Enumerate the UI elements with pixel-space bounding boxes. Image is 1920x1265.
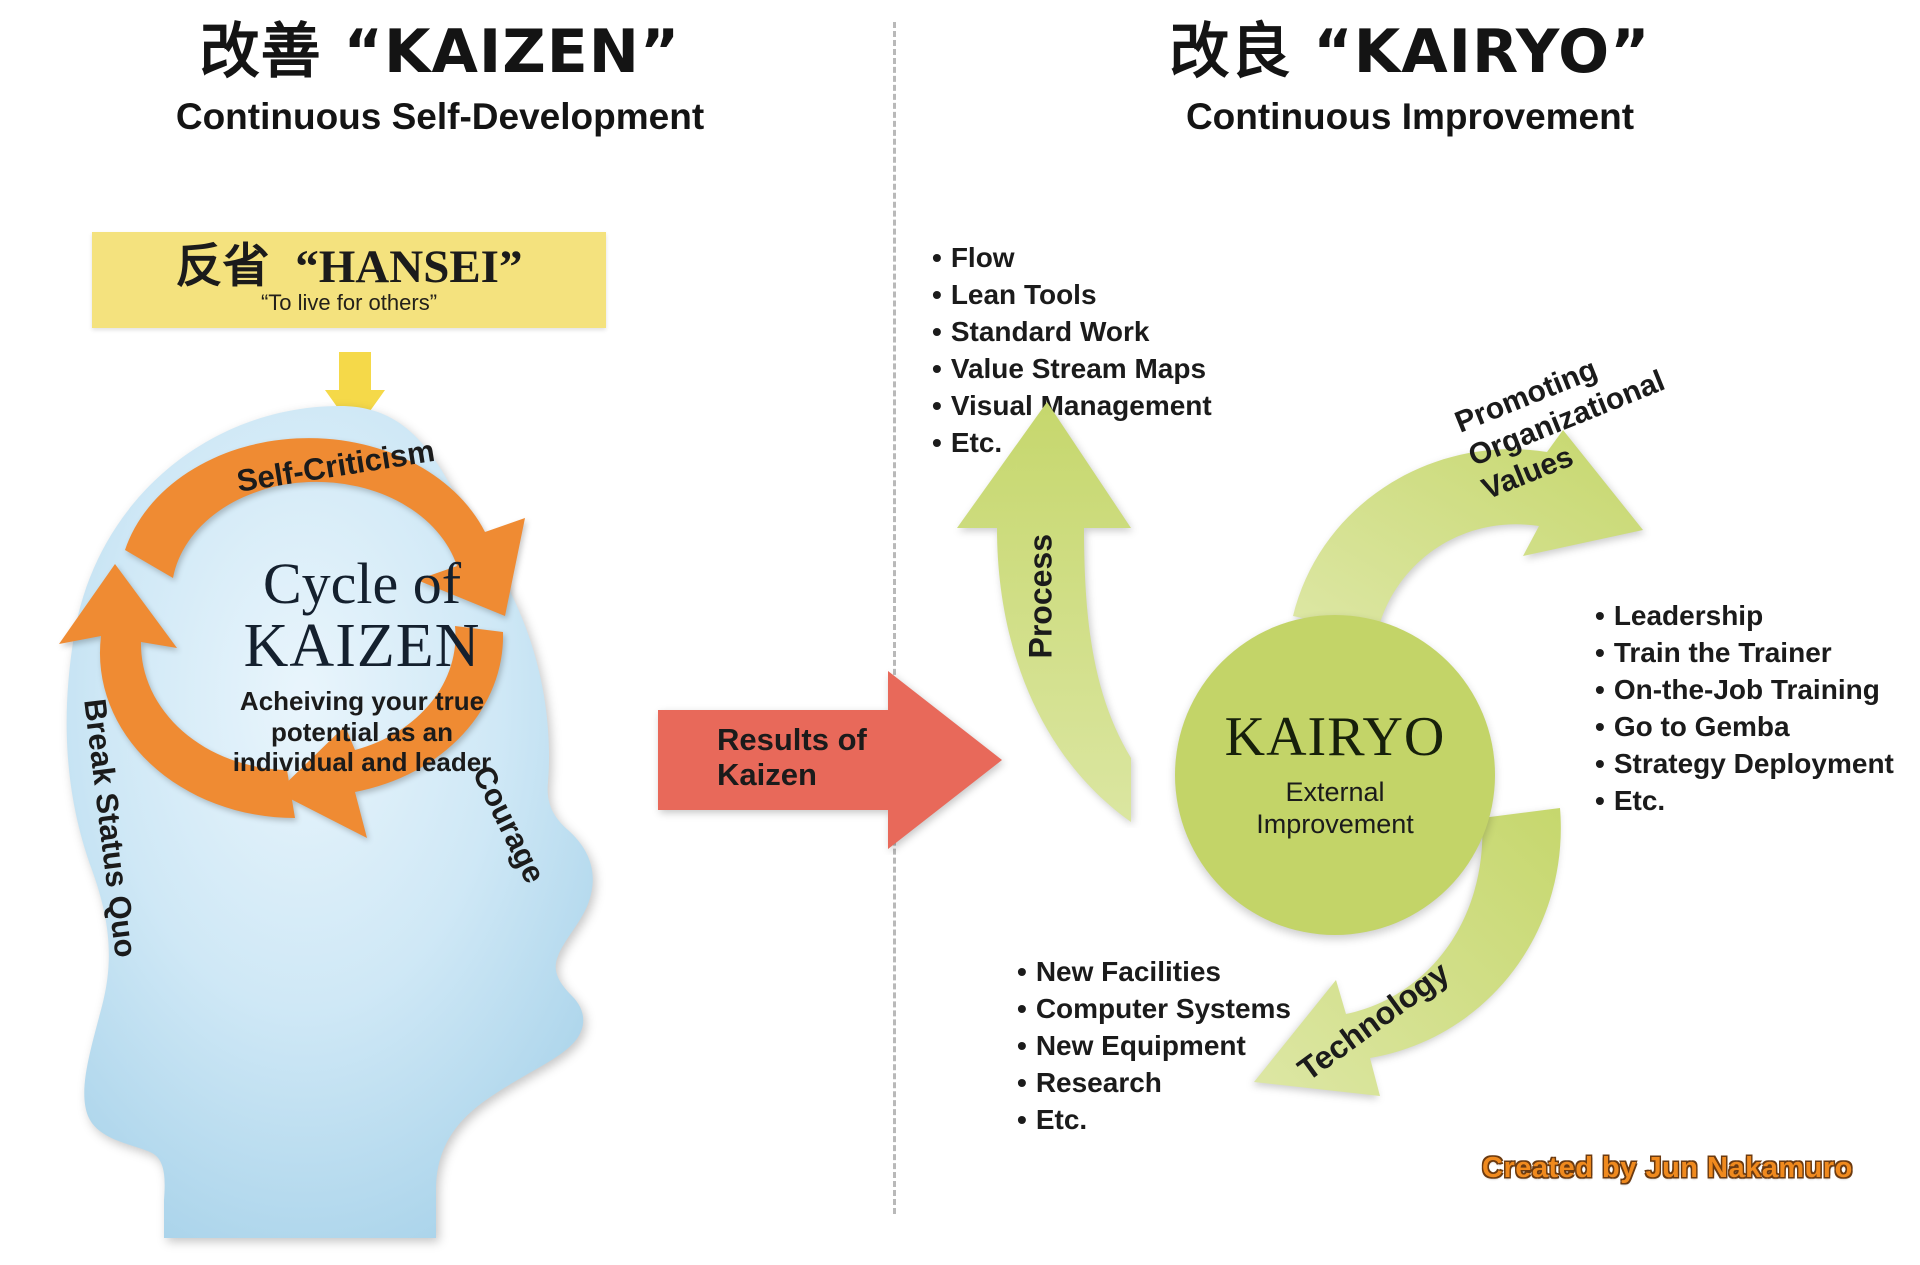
process-arrow-label: Process: [1023, 534, 1060, 659]
kaizen-title-subtitle: Continuous Self-Development: [0, 98, 880, 135]
hansei-title: 反省 “HANSEI”: [114, 242, 584, 292]
list-item: New Facilities: [1017, 957, 1291, 987]
list-item: Etc.: [1017, 1105, 1291, 1135]
list-item: Strategy Deployment: [1595, 749, 1894, 779]
cycle-title-line2: KAIZEN: [152, 613, 572, 680]
kaizen-title-block: 改善 “KAIZEN” Continuous Self-Development: [0, 22, 880, 135]
kairyo-circle: KAIRYO External Improvement: [1175, 615, 1495, 935]
kairyo-sub-line-2: Improvement: [1256, 809, 1414, 841]
cycle-description-line-1: Acheiving your true: [152, 686, 572, 717]
kairyo-circle-subtitle: External Improvement: [1256, 777, 1414, 841]
section-divider: [893, 22, 896, 1214]
list-item: Value Stream Maps: [932, 354, 1212, 384]
list-item: New Equipment: [1017, 1031, 1291, 1061]
hansei-callout: 反省 “HANSEI” “To live for others”: [92, 232, 606, 328]
hansei-arrow-stem: [339, 352, 371, 392]
list-item: On-the-Job Training: [1595, 675, 1894, 705]
list-item: Computer Systems: [1017, 994, 1291, 1024]
technology-list: New Facilities Computer Systems New Equi…: [1017, 957, 1291, 1142]
kaizen-title-japanese: 改善 “KAIZEN”: [0, 22, 880, 82]
credit-line: Created by Jun Nakamuro: [1482, 1152, 1853, 1185]
kairyo-circle-title: KAIRYO: [1225, 709, 1446, 765]
cycle-of-kaizen-text: Cycle of KAIZEN Acheiving your true pote…: [152, 555, 572, 778]
results-label-line-2: Kaizen: [717, 758, 867, 793]
cycle-title-line1: Cycle of: [152, 555, 572, 613]
kairyo-title-japanese: 改良 “KAIRYO”: [900, 22, 1920, 82]
kairyo-sub-line-1: External: [1256, 777, 1414, 809]
results-label-line-1: Results of: [717, 723, 867, 758]
hansei-caption: “To live for others”: [114, 290, 584, 316]
cycle-description: Acheiving your true potential as an indi…: [152, 686, 572, 778]
list-item: Flow: [932, 243, 1212, 273]
list-item: Leadership: [1595, 601, 1894, 631]
list-item: Train the Trainer: [1595, 638, 1894, 668]
list-item: Standard Work: [932, 317, 1212, 347]
kairyo-title-subtitle: Continuous Improvement: [900, 98, 1920, 135]
cycle-description-line-2: potential as an: [152, 717, 572, 748]
list-item: Research: [1017, 1068, 1291, 1098]
list-item: Lean Tools: [932, 280, 1212, 310]
hansei-japanese: 反省: [176, 239, 270, 294]
kairyo-title-block: 改良 “KAIRYO” Continuous Improvement: [900, 22, 1920, 135]
cycle-description-line-3: individual and leader: [152, 747, 572, 778]
list-item: Go to Gemba: [1595, 712, 1894, 742]
results-of-kaizen-label: Results of Kaizen: [717, 723, 867, 792]
hansei-romaji: “HANSEI”: [295, 241, 522, 293]
